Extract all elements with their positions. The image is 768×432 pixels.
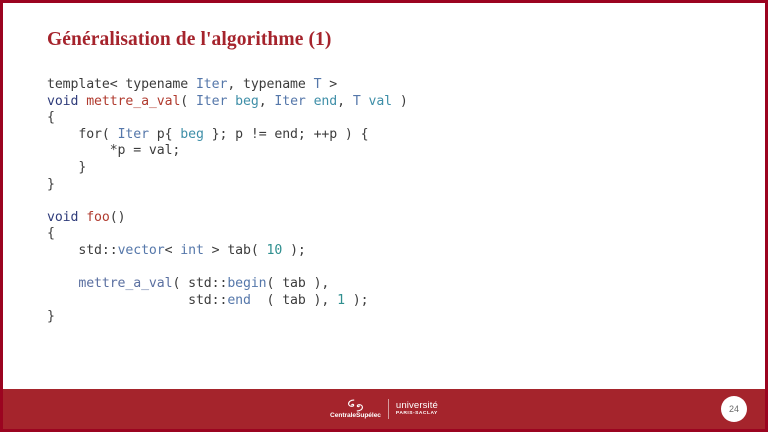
- code-token: ( tab ),: [251, 293, 337, 308]
- code-line: }: [47, 309, 408, 326]
- code-token: );: [345, 293, 369, 308]
- code-token: for(: [47, 127, 118, 142]
- institution-logo: CentraleSupélec université PARIS-SACLAY: [330, 395, 438, 423]
- code-token: *p = val;: [47, 143, 180, 158]
- code-line: {: [47, 226, 408, 243]
- code-token: end: [314, 94, 338, 109]
- code-token: beg: [235, 94, 259, 109]
- code-token: >: [321, 77, 337, 92]
- code-token: }: [47, 160, 86, 175]
- code-token: foo: [86, 210, 110, 225]
- centralesupelec-logo: CentraleSupélec: [330, 399, 381, 420]
- code-token: ,: [259, 94, 275, 109]
- code-token: Iter: [196, 94, 227, 109]
- universite-paris-saclay-logo: université PARIS-SACLAY: [396, 401, 438, 417]
- code-line: void mettre_a_val( Iter beg, Iter end, T…: [47, 94, 408, 111]
- code-token: (: [180, 94, 196, 109]
- code-line: std::end ( tab ), 1 );: [47, 293, 408, 310]
- code-token: }; p != end; ++p ) {: [204, 127, 369, 142]
- code-line: template< typename Iter, typename T >: [47, 77, 408, 94]
- code-line: void foo(): [47, 210, 408, 227]
- code-token: Iter: [274, 94, 305, 109]
- slide: Généralisation de l'algorithme (1) templ…: [0, 0, 768, 432]
- code-line: std::vector< int > tab( 10 );: [47, 243, 408, 260]
- code-token: <: [165, 243, 181, 258]
- code-line: }: [47, 177, 408, 194]
- code-token: template< typename: [47, 77, 196, 92]
- code-token: begin: [227, 276, 266, 291]
- code-token: std::: [47, 243, 118, 258]
- code-block: template< typename Iter, typename T >voi…: [47, 77, 408, 326]
- code-line: }: [47, 160, 408, 177]
- page-number-badge: 24: [721, 396, 747, 422]
- code-token: Iter: [196, 77, 227, 92]
- code-token: Iter: [118, 127, 149, 142]
- code-token: int: [180, 243, 204, 258]
- code-line: [47, 260, 408, 277]
- code-token: void: [47, 94, 86, 109]
- code-token: T: [353, 94, 361, 109]
- universite-wordmark: université: [396, 401, 438, 411]
- code-token: {: [47, 226, 55, 241]
- code-token: 1: [337, 293, 345, 308]
- code-token: beg: [180, 127, 204, 142]
- footer-bar: CentraleSupélec université PARIS-SACLAY …: [3, 389, 765, 429]
- code-line: for( Iter p{ beg }; p != end; ++p ) {: [47, 127, 408, 144]
- code-token: val: [369, 94, 393, 109]
- code-token: [361, 94, 369, 109]
- code-token: {: [47, 110, 55, 125]
- code-token: end: [227, 293, 251, 308]
- code-token: ( tab ),: [267, 276, 330, 291]
- code-line: *p = val;: [47, 143, 408, 160]
- logo-divider: [388, 399, 389, 419]
- page-title: Généralisation de l'algorithme (1): [47, 29, 331, 51]
- code-token: mettre_a_val: [86, 94, 180, 109]
- code-token: mettre_a_val: [78, 276, 172, 291]
- code-token: std::: [47, 293, 227, 308]
- code-line: mettre_a_val( std::begin( tab ),: [47, 276, 408, 293]
- code-token: }: [47, 309, 55, 324]
- code-token: , typename: [227, 77, 313, 92]
- code-token: void: [47, 210, 86, 225]
- code-token: );: [282, 243, 306, 258]
- paris-saclay-wordmark: PARIS-SACLAY: [396, 412, 438, 417]
- code-token: [47, 276, 78, 291]
- code-token: [306, 94, 314, 109]
- code-token: p{: [149, 127, 180, 142]
- code-token: ): [392, 94, 408, 109]
- code-token: (): [110, 210, 126, 225]
- code-line: {: [47, 110, 408, 127]
- centralesupelec-wordmark: CentraleSupélec: [330, 413, 381, 420]
- code-token: ( std::: [172, 276, 227, 291]
- centralesupelec-mark-icon: [347, 399, 364, 412]
- code-line: [47, 193, 408, 210]
- code-token: }: [47, 177, 55, 192]
- code-token: 10: [267, 243, 283, 258]
- code-token: ,: [337, 94, 353, 109]
- code-token: > tab(: [204, 243, 267, 258]
- code-token: [227, 94, 235, 109]
- code-token: vector: [118, 243, 165, 258]
